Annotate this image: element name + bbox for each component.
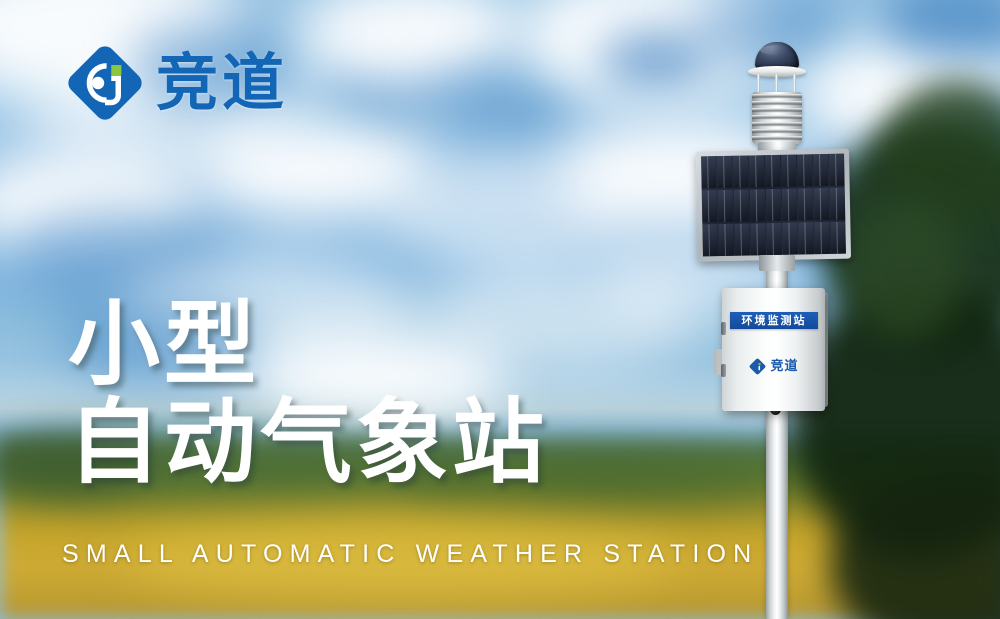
jingdao-diamond-logo-icon	[66, 44, 144, 122]
solar-panel-bracket-icon	[759, 255, 795, 271]
solar-cell-grid	[701, 154, 846, 257]
enclosure-box: 环境监测站 竞道	[722, 288, 825, 411]
enclosure-brand-logo: 竞道	[736, 358, 812, 375]
enclosure-latch-bottom	[721, 364, 726, 377]
enclosure-banner-label: 环境监测站	[742, 315, 807, 326]
solar-panel-icon	[696, 149, 851, 262]
page-title: 小型 自动气象站	[68, 296, 548, 493]
jingdao-diamond-logo-icon	[749, 358, 766, 375]
enclosure-latch-top	[721, 322, 726, 335]
headline-line-2: 自动气象站	[68, 394, 548, 492]
weather-station-banner: 环境监测站 竞道 竞道 小型	[0, 0, 1000, 619]
ultrasonic-weather-sensor-icon	[755, 42, 799, 69]
enclosure-brand-label: 竞道	[770, 360, 798, 373]
radiation-shield-icon	[752, 92, 802, 144]
headline-line-1: 小型	[68, 296, 548, 394]
brand-name: 竞道	[156, 52, 288, 114]
page-subtitle: SMALL AUTOMATIC WEATHER STATION	[62, 540, 758, 569]
enclosure-banner: 环境监测站	[730, 312, 818, 329]
brand-logo[interactable]: 竞道	[66, 44, 288, 122]
